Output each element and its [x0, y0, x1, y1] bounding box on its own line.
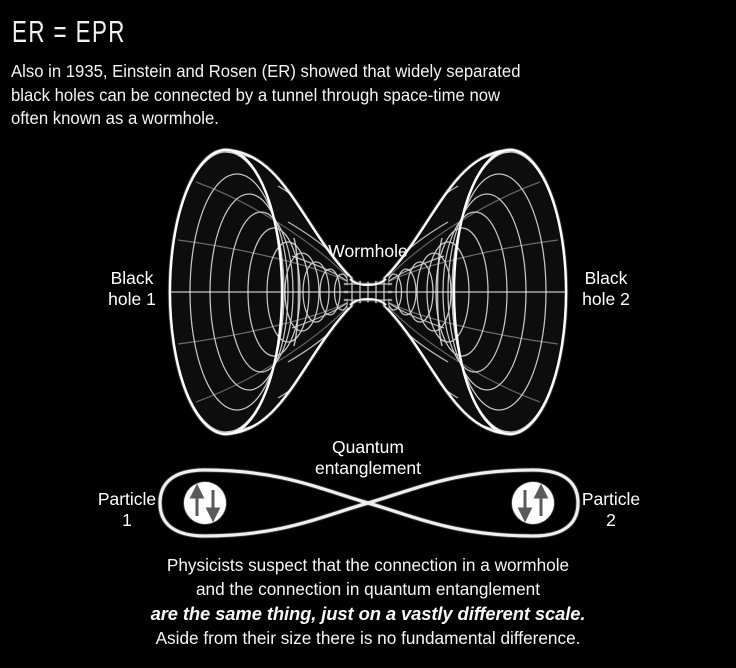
- label-particle-2-line1: Particle: [568, 489, 654, 510]
- label-particle-1: Particle 1: [84, 489, 170, 531]
- label-black-hole-2: Black hole 2: [562, 268, 650, 310]
- caption-line-1: Physicists suspect that the connection i…: [0, 554, 736, 578]
- label-particle-1-line1: Particle: [84, 489, 170, 510]
- label-black-hole-1: Black hole 1: [88, 268, 176, 310]
- label-black-hole-1-line1: Black: [88, 268, 176, 289]
- label-quantum-entanglement-line2: entanglement: [288, 458, 448, 479]
- caption-line-3-emphasis: are the same thing, just on a vastly dif…: [0, 601, 736, 627]
- particle-1: [184, 482, 226, 524]
- label-particle-2: Particle 2: [568, 489, 654, 531]
- caption-line-2: and the connection in quantum entangleme…: [0, 578, 736, 602]
- label-black-hole-2-line1: Black: [562, 268, 650, 289]
- label-quantum-entanglement: Quantum entanglement: [288, 437, 448, 479]
- label-particle-2-line2: 2: [568, 510, 654, 531]
- er-epr-infographic: ER = EPR Also in 1935, Einstein and Rose…: [0, 0, 736, 668]
- particle-2: [512, 482, 554, 524]
- label-black-hole-2-line2: hole 2: [562, 289, 650, 310]
- wormhole-throat: [344, 276, 392, 308]
- caption-line-4: Aside from their size there is no fundam…: [0, 627, 736, 651]
- label-quantum-entanglement-line1: Quantum: [288, 437, 448, 458]
- conclusion-caption: Physicists suspect that the connection i…: [0, 554, 736, 651]
- wormhole-left-mouth: [170, 150, 356, 434]
- wormhole-right-mouth: [380, 150, 566, 434]
- label-black-hole-1-line2: hole 1: [88, 289, 176, 310]
- label-wormhole: Wormhole: [298, 241, 438, 262]
- label-particle-1-line2: 1: [84, 510, 170, 531]
- particle-2-circle: [512, 482, 554, 524]
- particle-1-circle: [184, 482, 226, 524]
